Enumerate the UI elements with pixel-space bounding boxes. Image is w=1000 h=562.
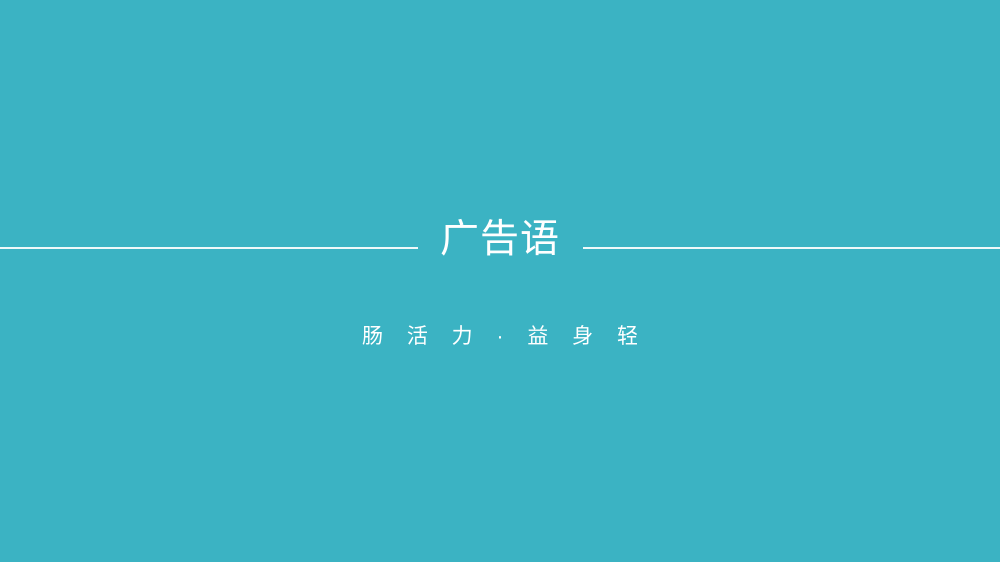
slide-canvas: 广告语 肠 活 力 · 益 身 轻 [0,0,1000,562]
slogan-text: 肠 活 力 · 益 身 轻 [0,320,1000,354]
page-title: 广告语 [0,214,1000,266]
